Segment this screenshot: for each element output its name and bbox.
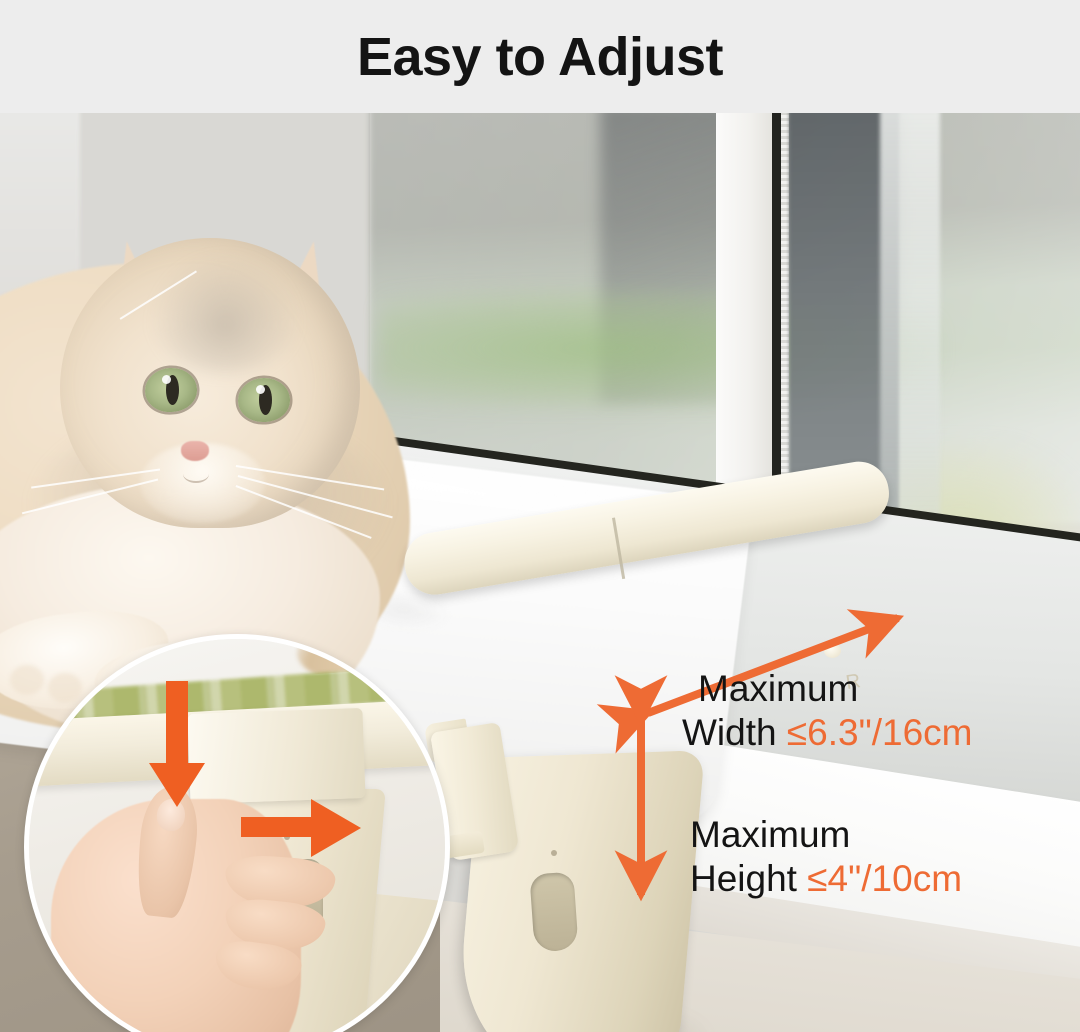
max-width-annotation: Maximum Width ≤6.3"/16cm — [698, 667, 973, 754]
max-width-line1: Maximum — [698, 668, 858, 709]
product-feature-image: Easy to Adjust — [0, 0, 1080, 1032]
product-photo: R R Maximum Width ≤6.3"/16cm — [0, 113, 1080, 1032]
page-title: Easy to Adjust — [0, 0, 1080, 113]
slide-right-arrow — [241, 799, 361, 857]
header-band: Easy to Adjust — [0, 0, 1080, 113]
inset-instruction-arrows — [29, 639, 445, 1032]
max-height-label: Height — [690, 858, 797, 899]
max-width-value: ≤6.3"/16cm — [787, 712, 973, 753]
max-height-annotation: Maximum Height ≤4"/10cm — [690, 813, 962, 900]
adjustment-detail-inset — [24, 634, 450, 1032]
press-down-arrow — [149, 681, 205, 807]
max-height-line1: Maximum — [690, 814, 850, 855]
max-width-label: Width — [682, 712, 777, 753]
max-height-value: ≤4"/10cm — [807, 858, 962, 899]
